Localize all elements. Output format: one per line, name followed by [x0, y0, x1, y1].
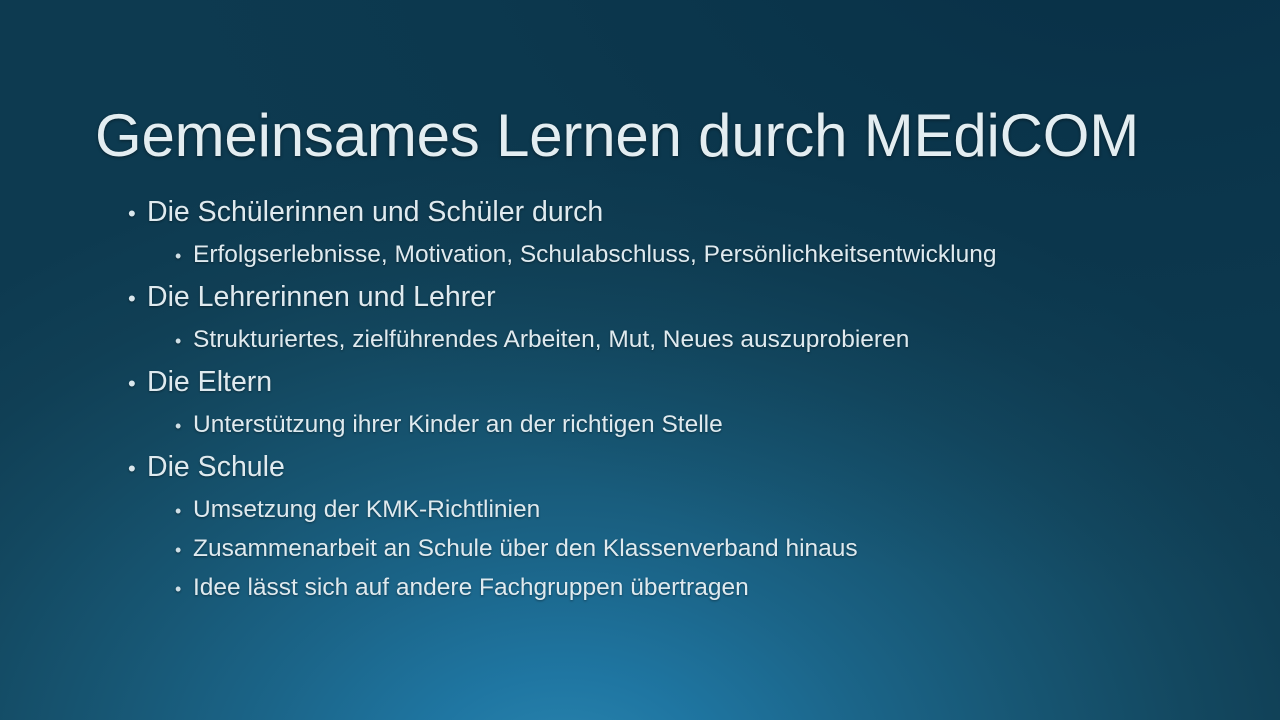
bullet-dot-icon: • [128, 447, 147, 491]
bullet-level2: • Erfolgserlebnisse, Motivation, Schulab… [175, 236, 1238, 275]
bullet-level1: • Die Schule [128, 445, 1238, 491]
bullet-level1: • Die Lehrerinnen und Lehrer [128, 275, 1238, 321]
bullet-sublist: • Erfolgserlebnisse, Motivation, Schulab… [128, 236, 1238, 275]
bullet-group: • Die Schülerinnen und Schüler durch • E… [128, 190, 1238, 275]
bullet-level2-label: Umsetzung der KMK-Richtlinien [193, 491, 1238, 528]
bullet-level2-label: Idee lässt sich auf andere Fachgruppen ü… [193, 569, 1238, 606]
bullet-level2: • Idee lässt sich auf andere Fachgruppen… [175, 569, 1238, 608]
bullet-sublist: • Strukturiertes, zielführendes Arbeiten… [128, 321, 1238, 360]
bullet-group: • Die Eltern • Unterstützung ihrer Kinde… [128, 360, 1238, 445]
bullet-dot-icon: • [128, 277, 147, 321]
bullet-level2: • Zusammenarbeit an Schule über den Klas… [175, 530, 1238, 569]
bullet-level1-label: Die Schülerinnen und Schüler durch [147, 190, 1238, 234]
bullet-group: • Die Lehrerinnen und Lehrer • Strukturi… [128, 275, 1238, 360]
bullet-dot-icon: • [128, 192, 147, 236]
bullet-dot-icon: • [175, 493, 193, 530]
bullet-level1: • Die Schülerinnen und Schüler durch [128, 190, 1238, 236]
bullet-dot-icon: • [175, 571, 193, 608]
slide-content: Gemeinsames Lernen durch MEdiCOM • Die S… [0, 0, 1280, 720]
bullet-level1-label: Die Eltern [147, 360, 1238, 404]
bullet-level2-label: Zusammenarbeit an Schule über den Klasse… [193, 530, 1238, 567]
bullet-dot-icon: • [175, 408, 193, 445]
bullet-level2: • Unterstützung ihrer Kinder an der rich… [175, 406, 1238, 445]
bullet-group: • Die Schule • Umsetzung der KMK-Richtli… [128, 445, 1238, 608]
bullet-level2-label: Erfolgserlebnisse, Motivation, Schulabsc… [193, 236, 1238, 273]
bullet-dot-icon: • [175, 238, 193, 275]
bullet-dot-icon: • [175, 532, 193, 569]
bullet-level2: • Strukturiertes, zielführendes Arbeiten… [175, 321, 1238, 360]
bullet-sublist: • Unterstützung ihrer Kinder an der rich… [128, 406, 1238, 445]
slide-title: Gemeinsames Lernen durch MEdiCOM [95, 102, 1195, 170]
bullet-sublist: • Umsetzung der KMK-Richtlinien • Zusamm… [128, 491, 1238, 608]
bullet-level1: • Die Eltern [128, 360, 1238, 406]
bullet-level2-label: Strukturiertes, zielführendes Arbeiten, … [193, 321, 1238, 358]
bullet-level1-label: Die Schule [147, 445, 1238, 489]
bullet-dot-icon: • [128, 362, 147, 406]
slide-body-list: • Die Schülerinnen und Schüler durch • E… [128, 190, 1238, 608]
bullet-level2: • Umsetzung der KMK-Richtlinien [175, 491, 1238, 530]
bullet-level2-label: Unterstützung ihrer Kinder an der richti… [193, 406, 1238, 443]
presentation-slide: Gemeinsames Lernen durch MEdiCOM • Die S… [0, 0, 1280, 720]
bullet-level1-label: Die Lehrerinnen und Lehrer [147, 275, 1238, 319]
bullet-dot-icon: • [175, 323, 193, 360]
